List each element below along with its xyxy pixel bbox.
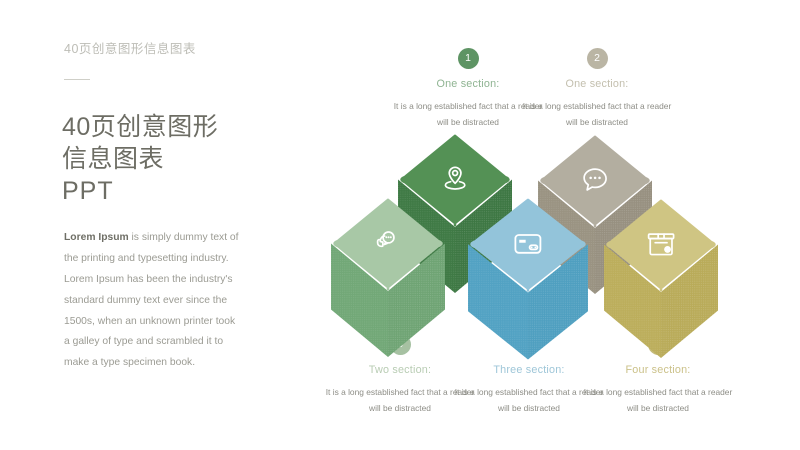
caption-5: 5 Four section: It is a long established…: [573, 334, 743, 416]
body-lead-text: Lorem Ipsum: [64, 232, 129, 243]
badge-1[interactable]: 1: [458, 48, 479, 69]
chat-bubble-icon: [580, 165, 610, 195]
headset-support-icon: [373, 228, 403, 258]
caption-desc-5: It is a long established fact that a rea…: [573, 385, 743, 416]
title-divider: [64, 79, 90, 80]
badge-5[interactable]: 5: [648, 334, 669, 355]
cube-credit-card[interactable]: [468, 196, 588, 330]
badge-3[interactable]: 3: [390, 334, 411, 355]
headline-line-1: 40页创意图形: [62, 112, 302, 144]
caption-desc-2: It is a long established fact that a rea…: [512, 99, 682, 130]
caption-2: 2 One section: It is a long established …: [512, 48, 682, 130]
body-rest-text: is simply dummy text of the printing and…: [64, 232, 239, 368]
package-box-icon: [646, 229, 676, 259]
badge-4[interactable]: 4: [519, 334, 540, 355]
badge-2[interactable]: 2: [587, 48, 608, 69]
cube-location[interactable]: [398, 132, 512, 264]
credit-card-icon: [512, 228, 544, 260]
body-paragraph: Lorem Ipsum is simply dummy text of the …: [64, 228, 240, 374]
caption-title-2: One section:: [512, 78, 682, 90]
headline-line-3: PPT: [62, 176, 302, 208]
cube-phone-support[interactable]: [331, 196, 445, 328]
headline-line-2: 信息图表: [62, 144, 302, 176]
cube-package[interactable]: [604, 197, 718, 329]
caption-title-5: Four section:: [573, 364, 743, 376]
kicker-text: 40页创意图形信息图表: [64, 38, 196, 57]
slide-canvas: 40页创意图形信息图表 40页创意图形 信息图表 PPT Lorem Ipsum…: [0, 0, 800, 450]
page-title: 40页创意图形 信息图表 PPT: [62, 112, 302, 207]
location-pin-icon: [440, 164, 470, 194]
cube-chat[interactable]: [538, 133, 652, 265]
